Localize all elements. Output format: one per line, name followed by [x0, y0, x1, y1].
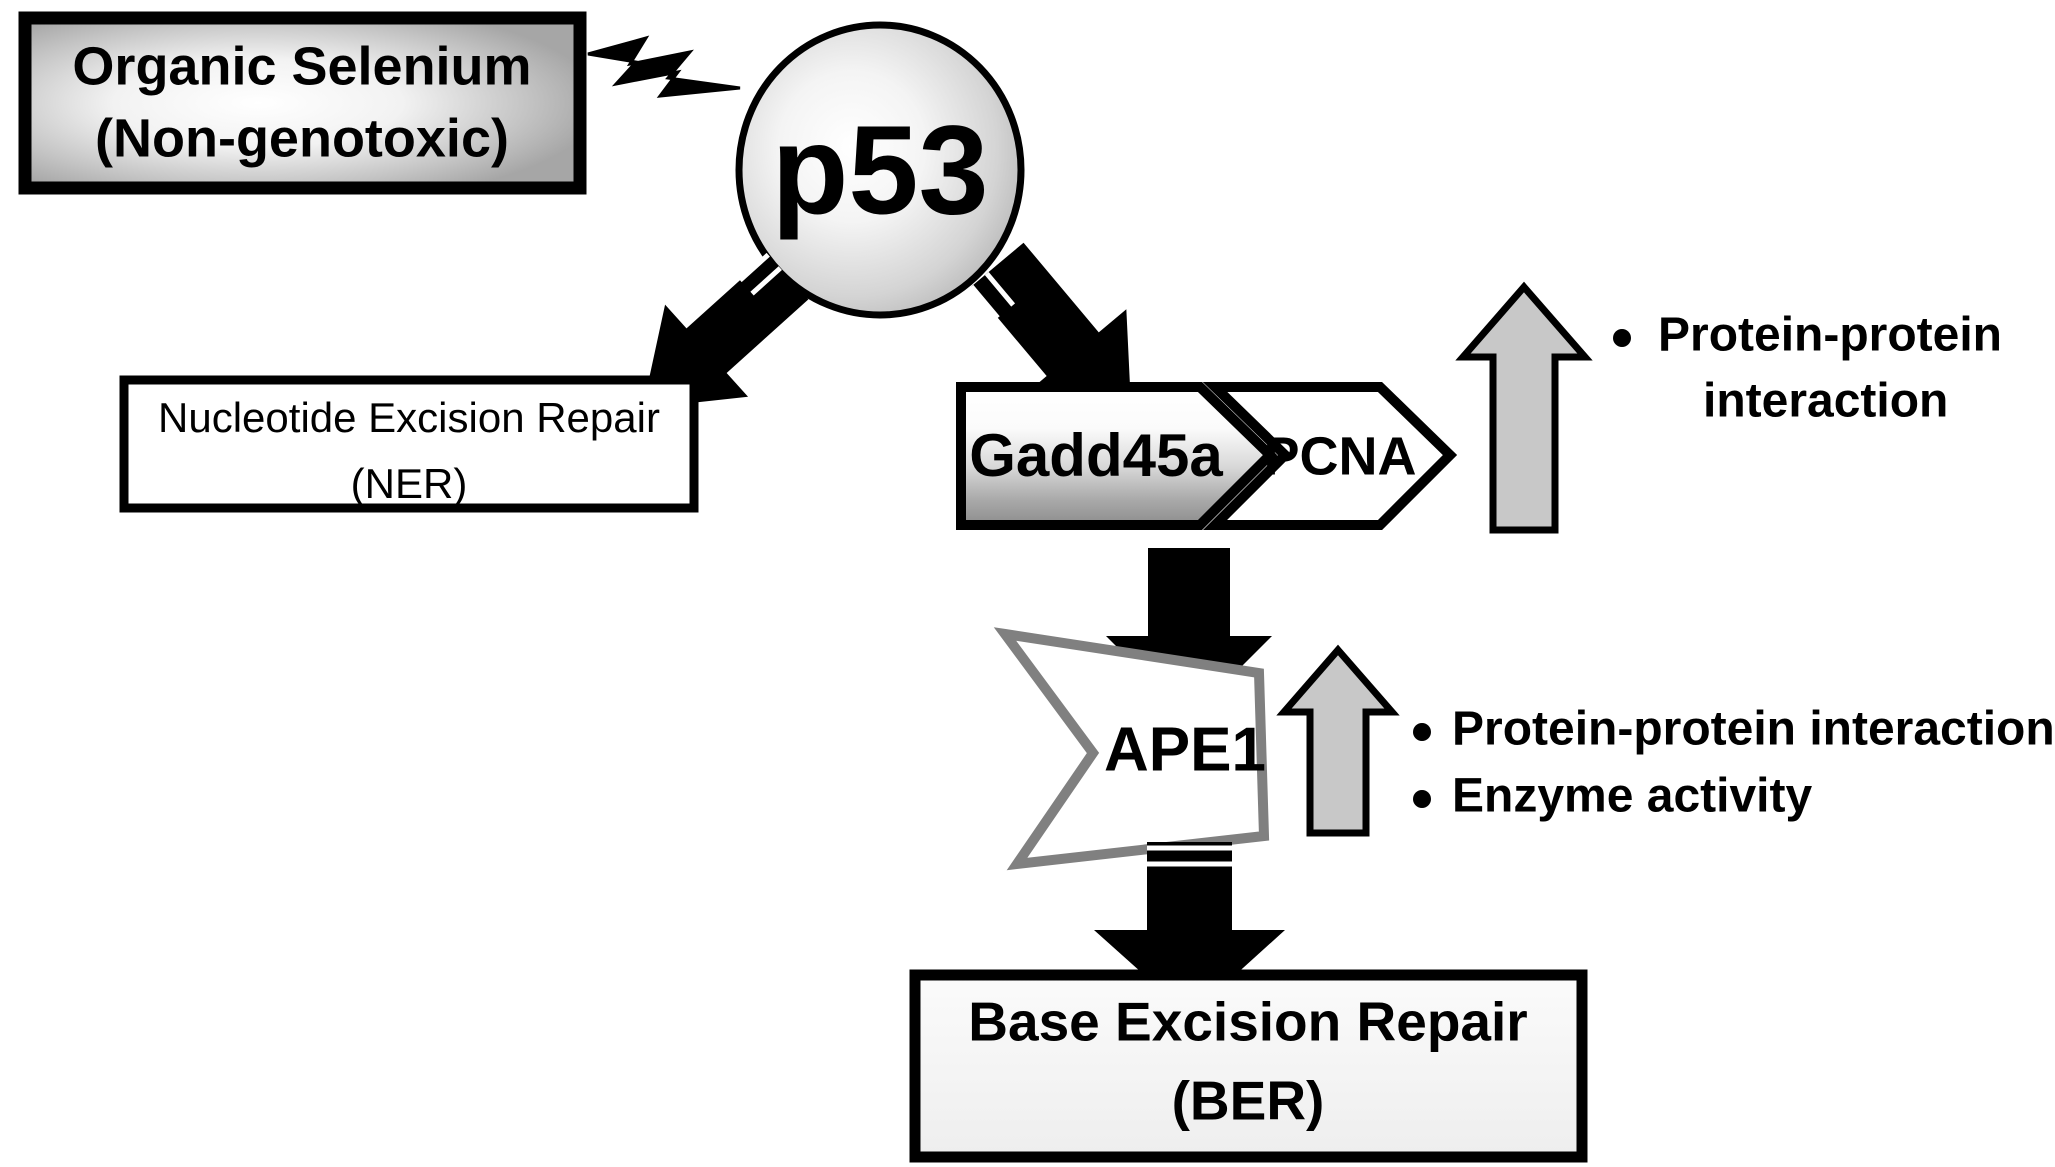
- node-gadd45a[interactable]: Gadd45a: [961, 387, 1270, 525]
- lower-bullet-2-text: Enzyme activity: [1452, 770, 1812, 823]
- pcna-label: PCNA: [1263, 426, 1416, 486]
- upper-bullet-1-text: Protein-protein: [1658, 309, 2002, 362]
- up-arrow-upper: [1463, 287, 1585, 530]
- ape1-label: APE1: [1104, 715, 1266, 784]
- upper-bullet-2-text: interaction: [1703, 375, 1948, 428]
- gadd45a-label: Gadd45a: [969, 422, 1223, 489]
- organic-selenium-label-line2: (Non-genotoxic): [95, 108, 509, 168]
- ber-label-line2: (BER): [1172, 1070, 1325, 1132]
- diagram-canvas: Organic Selenium (Non-genotoxic) p53 Nuc…: [0, 0, 2055, 1167]
- node-organic-selenium[interactable]: Organic Selenium (Non-genotoxic): [25, 18, 580, 188]
- up-arrow-lower: [1284, 650, 1392, 833]
- bullet-dot-icon-4: [1413, 790, 1431, 808]
- node-ape1[interactable]: APE1: [1005, 634, 1266, 864]
- bullet-dot-icon-3: [1413, 723, 1431, 741]
- node-ner[interactable]: Nucleotide Excision Repair (NER): [124, 380, 694, 508]
- annotation-upper-right: Protein-protein interaction: [1613, 309, 2002, 428]
- ber-label-line1: Base Excision Repair: [968, 991, 1527, 1053]
- organic-selenium-label-line1: Organic Selenium: [72, 36, 531, 96]
- ner-label-line2: (NER): [351, 460, 468, 507]
- annotation-lower-right: Protein-protein interaction Enzyme activ…: [1413, 703, 2055, 823]
- lightning-bolt-icon: [588, 38, 740, 96]
- bullet-dot-icon-1: [1613, 329, 1631, 347]
- lower-bullet-1-text: Protein-protein interaction: [1452, 703, 2055, 756]
- node-ber[interactable]: Base Excision Repair (BER): [915, 975, 1582, 1157]
- ner-label-line1: Nucleotide Excision Repair: [158, 394, 660, 441]
- p53-label: p53: [771, 99, 988, 240]
- pathway-diagram: Organic Selenium (Non-genotoxic) p53 Nuc…: [0, 0, 2055, 1167]
